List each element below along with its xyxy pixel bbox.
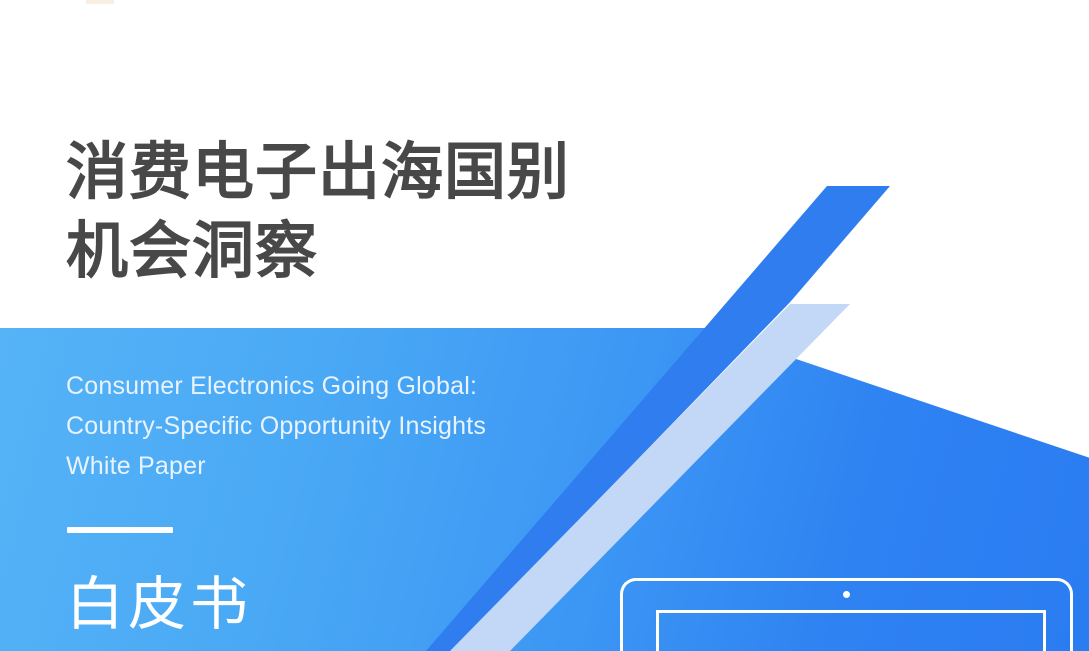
cropped-logo-remnant [86,0,114,4]
horizontal-rule-divider [67,527,173,533]
document-type-label: 白皮书 [66,572,252,639]
white-paper-cover: 消费电子出海国别 机会洞察 Consumer Electronics Going… [0,0,1089,651]
page-subtitle: Consumer Electronics Going Global: Count… [66,366,666,486]
page-title: 消费电子出海国别 机会洞察 [66,133,786,292]
tablet-screen-outline-icon [656,610,1046,651]
tablet-camera-dot-icon [843,591,850,598]
